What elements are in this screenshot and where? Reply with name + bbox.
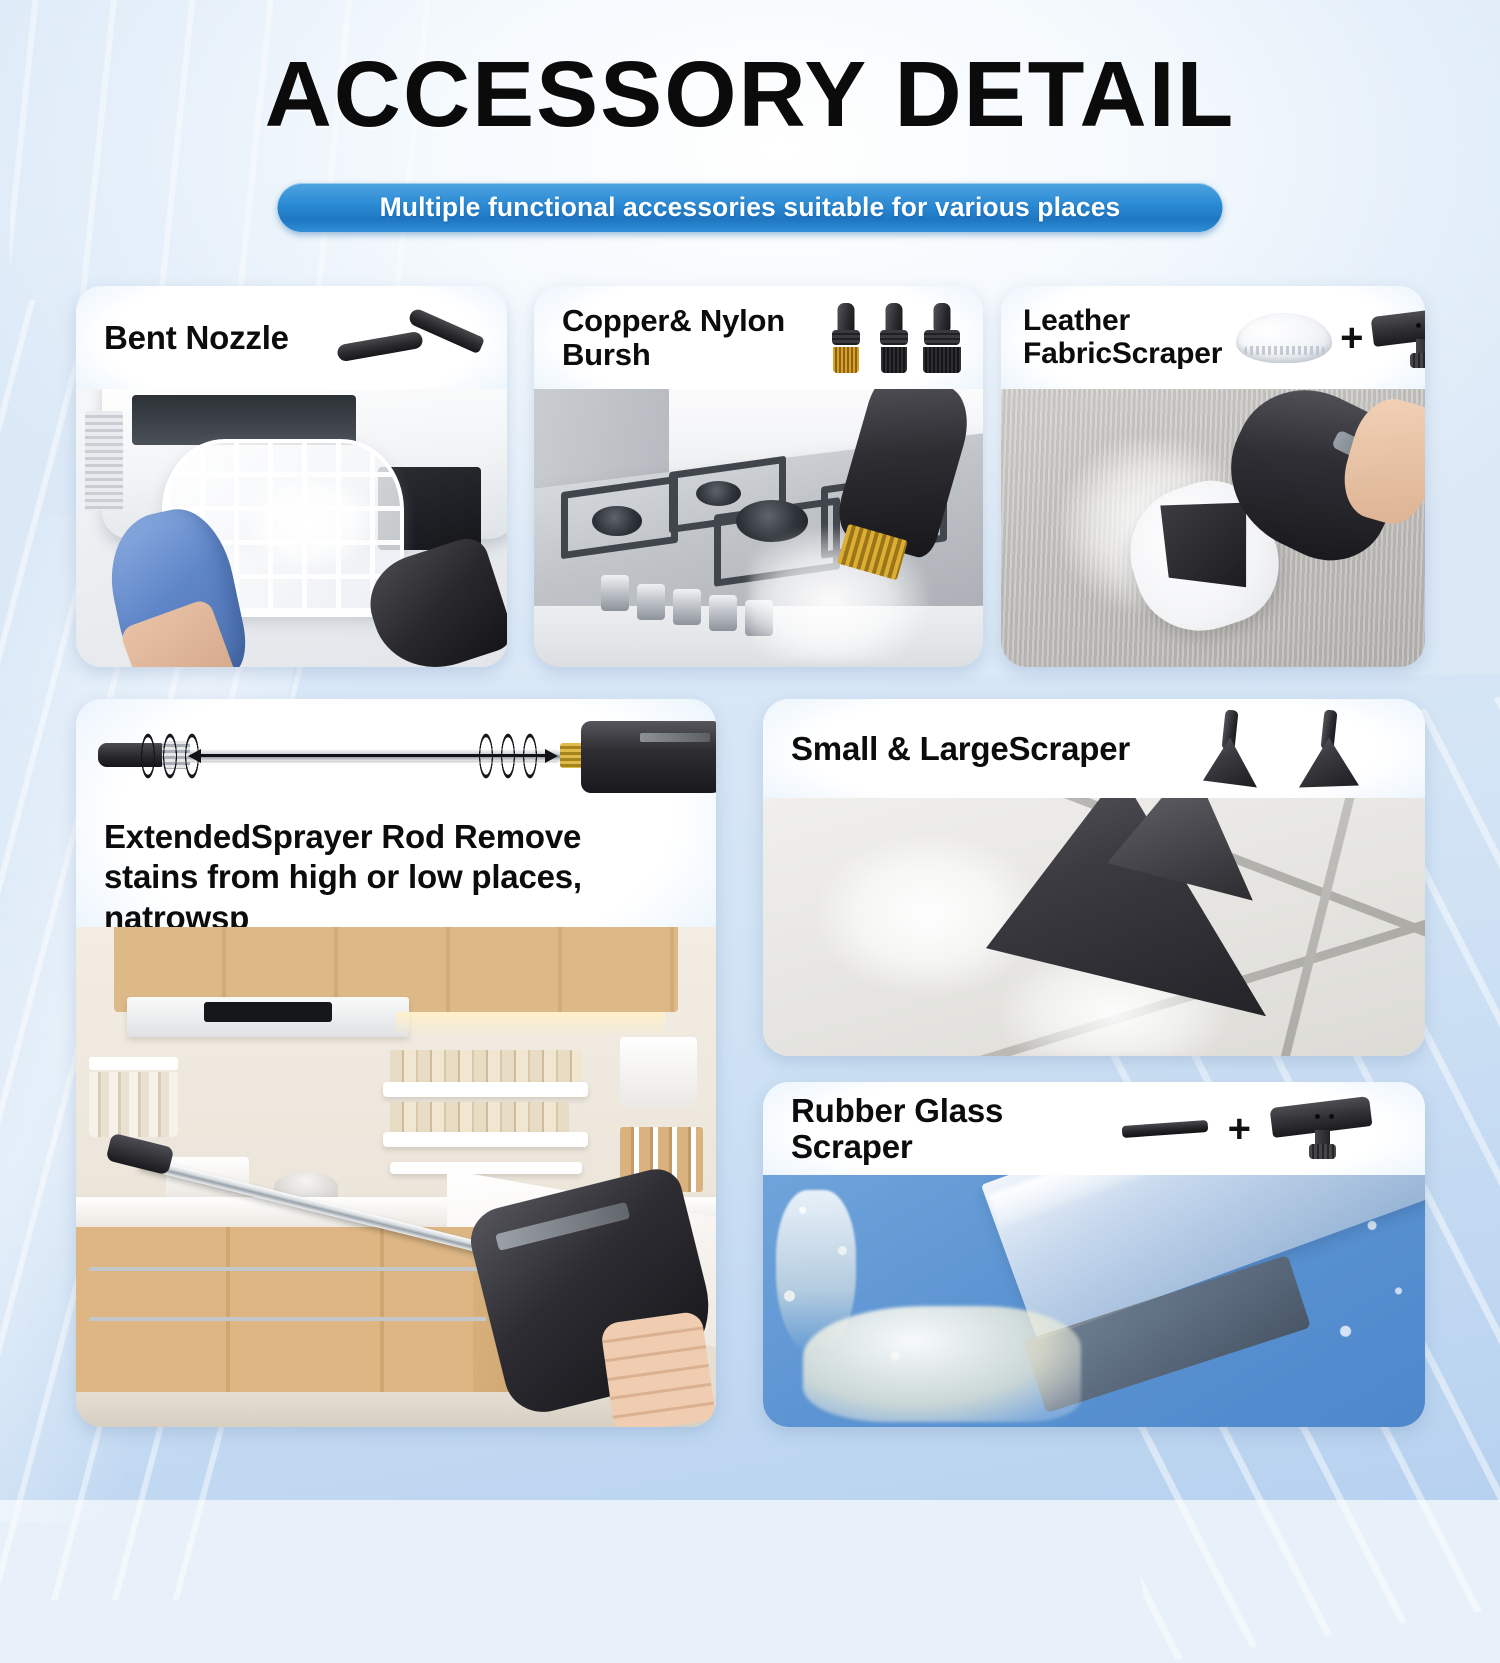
- card-leather-fabric-scraper-photo: [1001, 389, 1425, 667]
- subtitle-banner-wrap: Multiple functional accessories suitable…: [278, 183, 1223, 232]
- card-copper-nylon-brush-title: Copper& Nylon Bursh: [562, 304, 785, 371]
- card-small-large-scraper-header: Small & LargeScraper: [763, 699, 1425, 798]
- tile-grout-scraping-scene: [763, 798, 1425, 1056]
- card-rubber-glass-scraper-header: Rubber Glass Scraper +: [763, 1082, 1425, 1175]
- card-extended-sprayer-rod-header: ExtendedSprayer Rod Remove stains from h…: [76, 699, 716, 927]
- kitchen-extension-rod-scene: [76, 927, 716, 1427]
- card-copper-nylon-brush-icons: [827, 303, 961, 373]
- card-rubber-glass-scraper-icons: +: [1122, 1098, 1371, 1160]
- card-leather-fabric-scraper-title: Leather FabricScraper: [1023, 305, 1222, 370]
- plus-sign: +: [1228, 1109, 1251, 1149]
- large-scraper-icon: [1299, 710, 1359, 788]
- card-extended-sprayer-rod-title: ExtendedSprayer Rod Remove stains from h…: [104, 817, 674, 938]
- ac-filter-cleaning-scene: [76, 389, 507, 667]
- card-rubber-glass-scraper[interactable]: Rubber Glass Scraper +: [763, 1082, 1425, 1427]
- card-small-large-scraper-title: Small & LargeScraper: [791, 731, 1130, 767]
- card-leather-fabric-scraper-icons: +: [1236, 307, 1425, 369]
- card-copper-nylon-brush[interactable]: Copper& Nylon Bursh: [534, 286, 983, 667]
- wide-nylon-brush-icon: [923, 303, 961, 373]
- card-leather-fabric-scraper[interactable]: Leather FabricScraper +: [1001, 286, 1425, 667]
- nylon-brush-icon: [875, 303, 913, 373]
- carpet-steam-cleaning-scene: [1001, 389, 1425, 667]
- card-rubber-glass-scraper-title: Rubber Glass Scraper: [791, 1093, 1108, 1164]
- card-bent-nozzle-photo: [76, 389, 507, 667]
- gas-stove-cleaning-scene: [534, 389, 983, 667]
- card-leather-fabric-scraper-header: Leather FabricScraper +: [1001, 286, 1425, 389]
- page-title: ACCESSORY DETAIL: [0, 48, 1500, 141]
- plus-sign: +: [1340, 318, 1363, 358]
- card-copper-nylon-brush-header: Copper& Nylon Bursh: [534, 286, 983, 389]
- bonnet-cloth-icon: [1236, 313, 1332, 363]
- card-small-large-scraper-icons: [1203, 710, 1359, 788]
- extension-rod-icon: [76, 699, 716, 811]
- subtitle-banner: Multiple functional accessories suitable…: [278, 183, 1223, 232]
- card-bent-nozzle-title: Bent Nozzle: [104, 320, 289, 356]
- card-rubber-glass-scraper-photo: [763, 1175, 1425, 1427]
- card-copper-nylon-brush-photo: [534, 389, 983, 667]
- card-extended-sprayer-rod-photo: [76, 927, 716, 1427]
- card-extended-sprayer-rod[interactable]: ExtendedSprayer Rod Remove stains from h…: [76, 699, 716, 1427]
- rubber-strip-icon: [1122, 1119, 1208, 1139]
- accessory-detail-page: ACCESSORY DETAIL Multiple functional acc…: [0, 0, 1500, 1500]
- card-bent-nozzle[interactable]: Bent Nozzle: [76, 286, 507, 667]
- bent-nozzle-icon: [335, 314, 485, 362]
- card-bent-nozzle-icons: [335, 314, 485, 362]
- glass-squeegee-scene: [763, 1175, 1425, 1427]
- copper-brush-icon: [827, 303, 865, 373]
- flat-scraper-head-icon: [1271, 1098, 1371, 1160]
- flat-scraper-head-icon: [1372, 307, 1425, 369]
- small-scraper-icon: [1203, 710, 1257, 788]
- card-small-large-scraper-photo: [763, 798, 1425, 1056]
- card-bent-nozzle-header: Bent Nozzle: [76, 286, 507, 389]
- card-small-large-scraper[interactable]: Small & LargeScraper: [763, 699, 1425, 1056]
